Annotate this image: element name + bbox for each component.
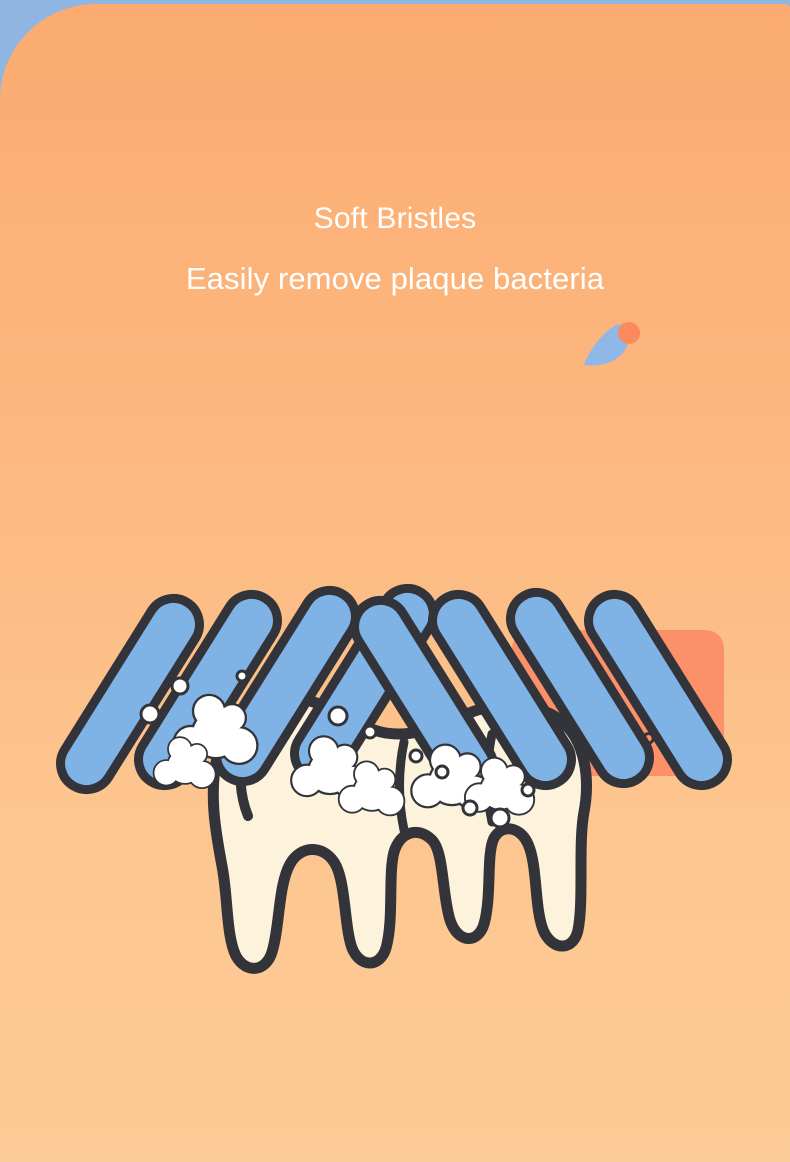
bubble-3 (237, 671, 247, 681)
toothbrush-bristles-cleaning-tooth-illustration: 45° (0, 544, 790, 1014)
leaf-and-dot-ornament (578, 320, 648, 378)
bubble-7 (436, 766, 448, 778)
bubble-5 (364, 726, 376, 738)
dot-icon (618, 322, 640, 344)
bubble-1 (172, 678, 188, 694)
bubble-10 (522, 784, 534, 796)
bubble-9 (491, 809, 509, 827)
product-feature-panel: Soft Bristles Easily remove plaque bacte… (0, 0, 790, 1162)
headings-block: Soft Bristles Easily remove plaque bacte… (0, 200, 790, 298)
page-subtitle: Easily remove plaque bacteria (0, 260, 790, 299)
bubble-4 (329, 707, 347, 725)
bubble-8 (463, 801, 477, 815)
bubble-2 (141, 705, 159, 723)
bubble-6 (410, 750, 422, 762)
orange-feature-card: Soft Bristles Easily remove plaque bacte… (0, 4, 790, 1162)
tooth-gap-right-a (400, 742, 405, 830)
page-title: Soft Bristles (0, 200, 790, 238)
